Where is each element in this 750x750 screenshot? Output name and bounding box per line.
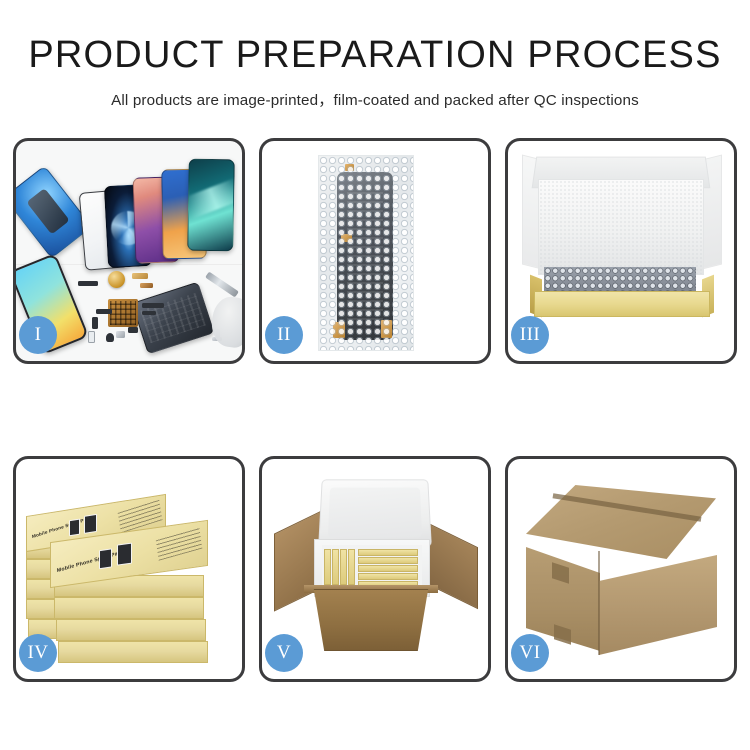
kraft-box-front-panel bbox=[534, 291, 710, 317]
packed-yellow-box bbox=[358, 549, 418, 556]
box-window-right bbox=[117, 543, 132, 566]
box-label-text: Mobile Phone Spare Parts bbox=[57, 549, 126, 574]
packed-yellow-box bbox=[358, 573, 418, 580]
process-step-panel-1: I bbox=[13, 138, 245, 364]
packed-yellow-box bbox=[324, 549, 331, 585]
carton-body bbox=[306, 589, 436, 651]
vibration-motor-part bbox=[108, 271, 125, 288]
stacked-box bbox=[58, 641, 208, 663]
stacked-box bbox=[56, 619, 206, 641]
process-steps-grid: I II bbox=[13, 138, 737, 690]
process-step-panel-4: Mobile Phone Spare Parts Mobile Phone Sp… bbox=[13, 456, 245, 682]
phone-back-housing bbox=[131, 282, 214, 355]
process-step-panel-2: II bbox=[259, 138, 491, 364]
tweezers-tool bbox=[205, 272, 239, 298]
process-step-panel-6: VI bbox=[505, 456, 737, 682]
spare-part-speaker bbox=[106, 333, 114, 342]
process-step-panel-5: V bbox=[259, 456, 491, 682]
box-window-left bbox=[99, 548, 112, 569]
step-badge-6: VI bbox=[511, 634, 549, 672]
stacked-box bbox=[54, 597, 204, 619]
product-preparation-process-infographic: PRODUCT PREPARATION PROCESS All products… bbox=[0, 0, 750, 750]
step-badge-4: IV bbox=[19, 634, 57, 672]
page-title: PRODUCT PREPARATION PROCESS bbox=[0, 36, 750, 76]
hand-holding-tool bbox=[209, 295, 242, 350]
step-badge-5: V bbox=[265, 634, 303, 672]
spare-part-chip bbox=[78, 281, 98, 286]
step-badge-1: I bbox=[19, 316, 57, 354]
carton-flap-right bbox=[428, 523, 478, 609]
step-badge-3: III bbox=[511, 316, 549, 354]
spare-part-sim-tray bbox=[88, 331, 95, 343]
step-badge-2: II bbox=[265, 316, 303, 354]
box-window-right bbox=[84, 514, 97, 534]
spare-part-bracket bbox=[92, 317, 98, 329]
packed-yellow-box bbox=[340, 549, 347, 585]
header: PRODUCT PREPARATION PROCESS All products… bbox=[0, 36, 750, 110]
spare-part-flex-cable bbox=[142, 303, 164, 308]
foam-box-lid bbox=[318, 479, 432, 546]
bubble-wrap-bag bbox=[318, 155, 414, 351]
phone-teal-wallpaper bbox=[187, 159, 235, 252]
foam-box-interior bbox=[322, 545, 422, 589]
spare-part-camera bbox=[116, 331, 125, 338]
foam-sheet-lining bbox=[538, 179, 704, 275]
spare-part-chip bbox=[128, 327, 138, 333]
spare-part-chip bbox=[96, 309, 112, 314]
spare-part-flex-cable bbox=[140, 283, 153, 288]
tape-tab-middle bbox=[341, 234, 352, 242]
packed-yellow-box bbox=[348, 549, 355, 585]
tape-tab-bottom-right bbox=[381, 320, 392, 338]
box-stack: Mobile Phone Spare Parts Mobile Phone Sp… bbox=[22, 475, 242, 673]
spare-part-flex-cable bbox=[142, 311, 156, 315]
tape-tab-bottom-left bbox=[333, 322, 345, 338]
tape-tab-top bbox=[345, 164, 354, 171]
box-window-left bbox=[69, 519, 80, 537]
process-step-panel-3: III bbox=[505, 138, 737, 364]
spare-part-connector bbox=[132, 273, 148, 279]
wrapped-display-assembly bbox=[337, 172, 393, 340]
box-spec-lines bbox=[156, 527, 203, 561]
logic-board-part bbox=[108, 299, 138, 327]
packed-yellow-box bbox=[358, 565, 418, 572]
packed-yellow-box bbox=[332, 549, 339, 585]
packed-yellow-box bbox=[358, 557, 418, 564]
carton-vertical-edge bbox=[598, 551, 600, 655]
carton-right-face bbox=[599, 555, 717, 655]
page-subtitle: All products are image-printed，film-coat… bbox=[0, 88, 750, 110]
